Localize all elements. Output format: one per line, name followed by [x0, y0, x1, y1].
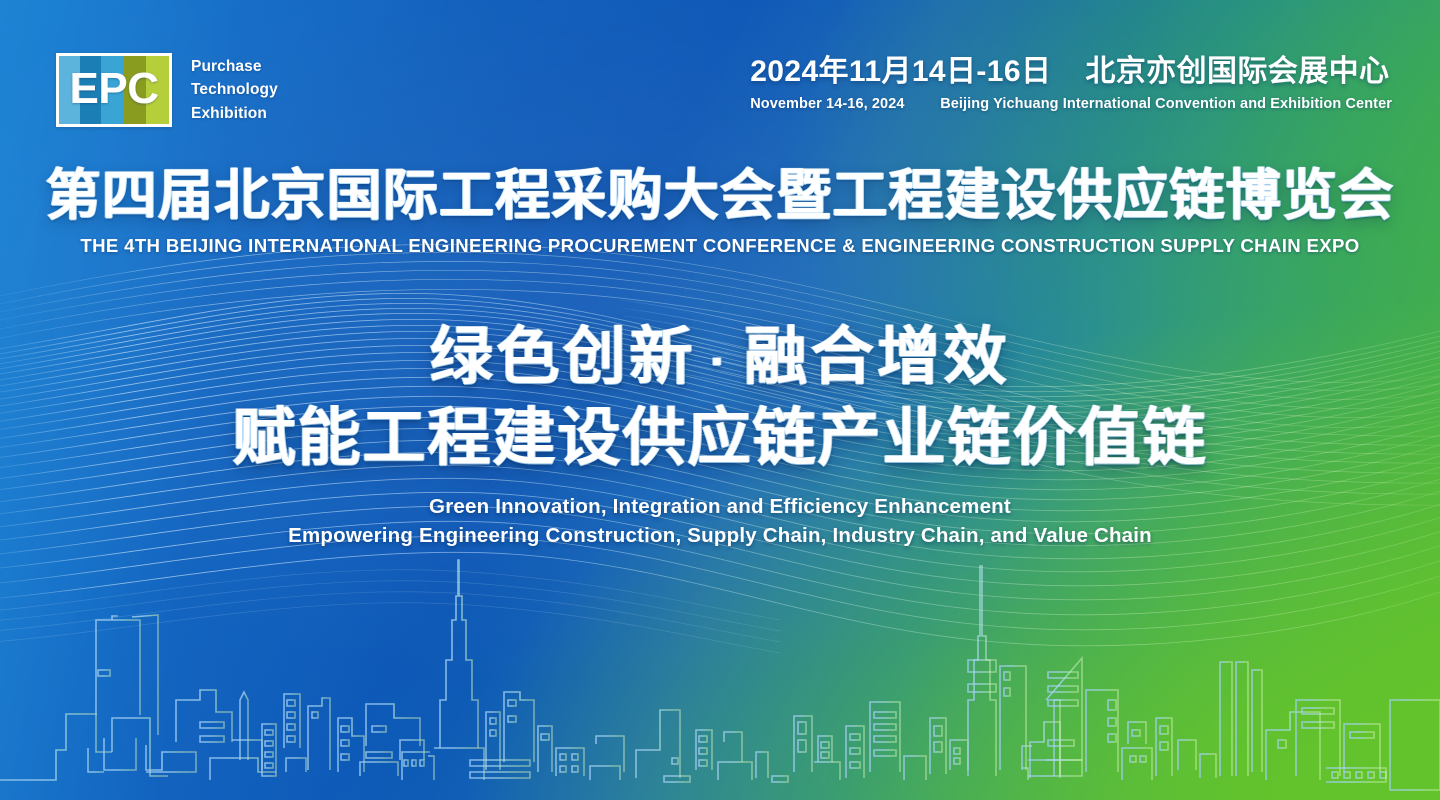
banner-header: EPC Purchase Technology Exhibition 2024年… [0, 0, 1440, 150]
event-meta-en: November 14-16, 2024 Beijing Yichuang In… [750, 96, 1392, 113]
logo-tagline-line-2: Technology [191, 79, 278, 100]
logo-wordmark: EPC [59, 56, 169, 124]
event-venue-cn: 北京亦创国际会展中心 [1085, 55, 1389, 89]
slogan-cn-line-2: 赋能工程建设供应链产业链价值链 [0, 403, 1440, 475]
epc-logo-mark: EPC [56, 53, 172, 127]
event-title-block: 第四届北京国际工程采购大会暨工程建设供应链博览会 THE 4TH BEIJING… [0, 166, 1440, 257]
event-date-cn: 2024年11月14日-16日 [750, 55, 1051, 89]
slogan-cn-line-1-part-a: 绿色创新 [430, 322, 696, 392]
event-venue-en: Beijing Yichuang International Conventio… [940, 96, 1392, 113]
logo-tagline-line-1: Purchase [191, 56, 278, 77]
event-meta-cn: 2024年11月14日-16日 北京亦创国际会展中心 [750, 55, 1392, 89]
slogan-en-line-2: Empowering Engineering Construction, Sup… [0, 521, 1440, 550]
epc-logo-lockup: EPC Purchase Technology Exhibition [56, 53, 278, 127]
slogan-cn-line-1-part-b: 融合增效 [744, 322, 1010, 392]
event-date-en: November 14-16, 2024 [750, 96, 918, 113]
event-title-en: THE 4TH BEIJING INTERNATIONAL ENGINEERIN… [0, 235, 1440, 257]
slogan-en-line-1: Green Innovation, Integration and Effici… [0, 492, 1440, 521]
logo-tagline-line-3: Exhibition [191, 103, 278, 124]
event-slogan-block: 绿色创新·融合增效 赋能工程建设供应链产业链价值链 Green Innovati… [0, 322, 1440, 550]
event-meta: 2024年11月14日-16日 北京亦创国际会展中心 November 14-1… [750, 55, 1392, 113]
event-title-cn: 第四届北京国际工程采购大会暨工程建设供应链博览会 [0, 166, 1440, 225]
event-banner: EPC Purchase Technology Exhibition 2024年… [0, 0, 1440, 800]
slogan-separator-dot: · [696, 333, 744, 390]
slogan-cn-line-1: 绿色创新·融合增效 [0, 322, 1440, 394]
slogan-en-block: Green Innovation, Integration and Effici… [0, 492, 1440, 550]
logo-tagline: Purchase Technology Exhibition [191, 56, 278, 123]
